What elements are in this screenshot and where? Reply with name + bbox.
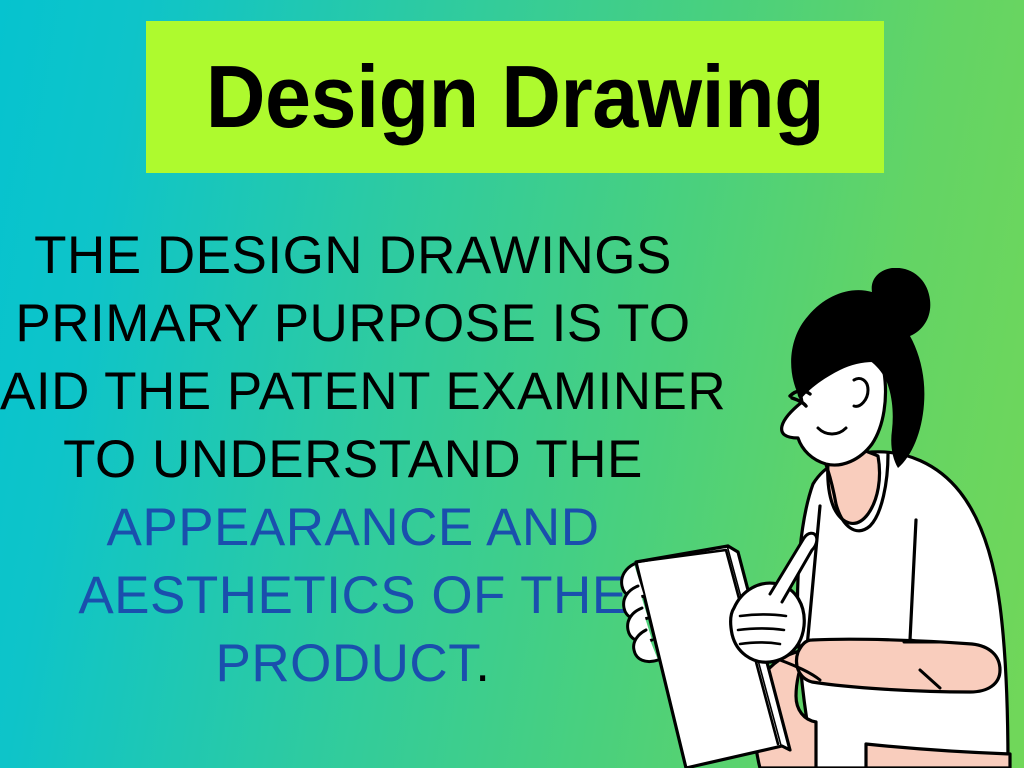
- hand-right-knuckle-3: [740, 643, 780, 645]
- shirt-body: [798, 452, 1008, 768]
- body-line-1: THE DESIGN DRAWINGS: [0, 222, 706, 290]
- neck-skin: [828, 438, 880, 523]
- eyebrow: [790, 391, 810, 396]
- body-terminal-period: .: [475, 634, 490, 693]
- face: [782, 324, 886, 465]
- body-line-4: TO UNDERSTAND THE: [0, 426, 706, 494]
- wrist-line: [780, 660, 820, 680]
- stylus-pen: [770, 533, 817, 602]
- arm-near-upper: [755, 650, 816, 768]
- body-line-6: AESTHETICS OF THE: [0, 562, 706, 630]
- forearm-crease-2: [920, 670, 940, 688]
- forearm-skin: [797, 639, 1000, 692]
- tablet-spine: [728, 546, 790, 750]
- shirt-vneck: [817, 444, 888, 531]
- hair-back: [791, 268, 930, 468]
- body-paragraph: THE DESIGN DRAWINGS PRIMARY PURPOSE IS T…: [0, 222, 706, 698]
- slide-canvas: Design Drawing THE DESIGN DRAWINGS PRIMA…: [0, 0, 1024, 768]
- ear: [854, 378, 868, 406]
- page-title: Design Drawing: [168, 21, 862, 173]
- body-line-7: PRODUCT.: [0, 630, 706, 698]
- body-line-7-accent: PRODUCT: [216, 634, 476, 693]
- smile: [818, 428, 846, 434]
- eye: [792, 398, 806, 406]
- hand-right-knuckle-2: [738, 629, 784, 631]
- hip-hem: [866, 744, 1010, 768]
- body-line-3: AID THE PATENT EXAMINER: [0, 358, 706, 426]
- hair-fringe: [796, 314, 891, 400]
- hand-right: [731, 583, 805, 662]
- body-line-5: APPEARANCE AND: [0, 494, 706, 562]
- body-line-2: PRIMARY PURPOSE IS TO: [0, 290, 706, 358]
- sleeve-right-hem: [910, 520, 978, 654]
- hand-right-knuckle-1: [740, 615, 786, 617]
- sleeve-left-hem: [806, 506, 888, 678]
- hair-lock: [777, 328, 802, 394]
